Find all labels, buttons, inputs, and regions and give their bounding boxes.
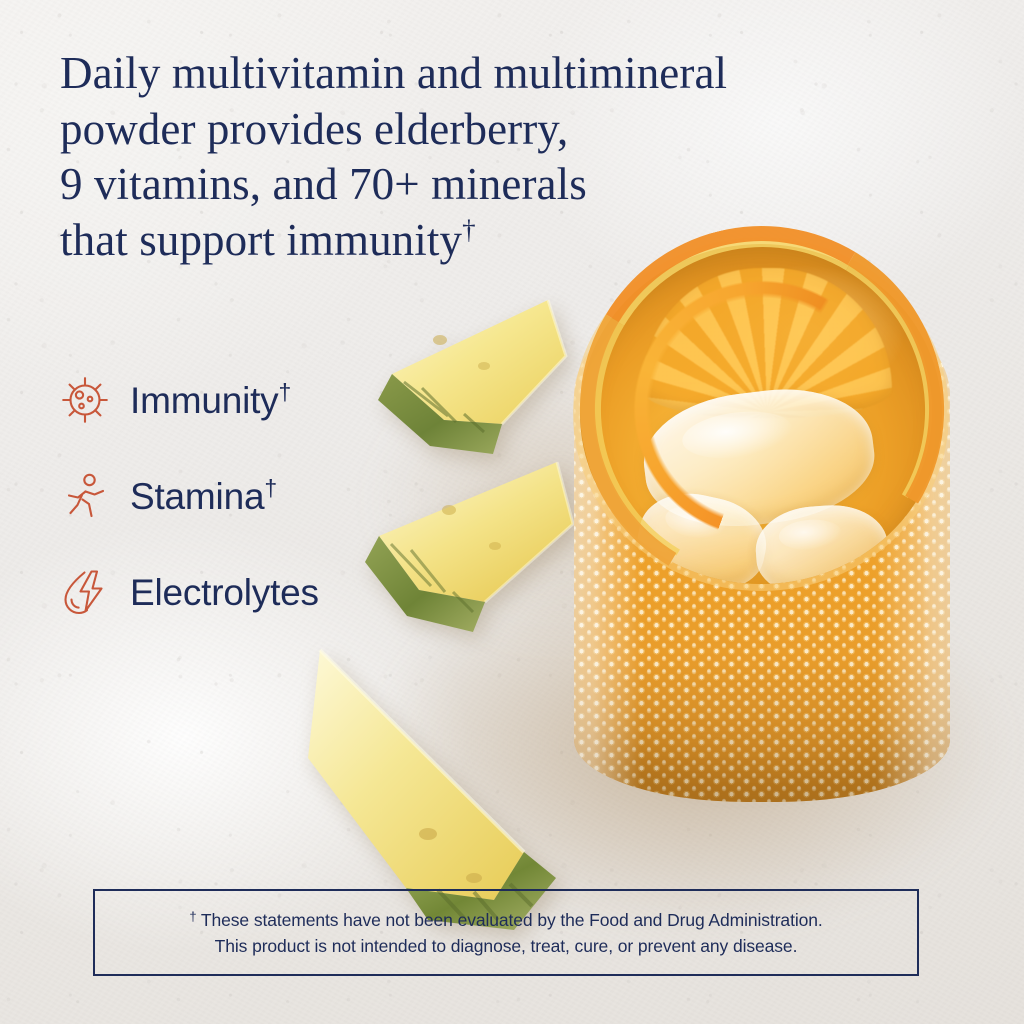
headline-dagger: †	[462, 215, 476, 245]
benefit-dagger: †	[278, 379, 291, 405]
fda-disclaimer-box: † These statements have not been evaluat…	[93, 889, 919, 976]
benefit-dagger: †	[264, 475, 277, 501]
headline-text: Daily multivitamin and multimineral powd…	[60, 48, 727, 265]
headline: Daily multivitamin and multimineral powd…	[60, 46, 860, 268]
disclaimer-line-1: † These statements have not been evaluat…	[189, 909, 822, 931]
lightning-droplet-icon	[58, 565, 112, 619]
benefit-label: Immunity†	[130, 379, 291, 422]
virus-icon	[58, 373, 112, 427]
benefit-label: Stamina†	[130, 475, 277, 518]
benefits-list: Immunity† Stamina†	[58, 352, 478, 640]
disclaimer-dagger: †	[189, 909, 196, 924]
benefit-item-immunity: Immunity†	[58, 352, 478, 448]
runner-icon	[58, 469, 112, 523]
benefit-item-electrolytes: Electrolytes	[58, 544, 478, 640]
disclaimer-line-2: This product is not intended to diagnose…	[215, 936, 798, 957]
product-marketing-image: Daily multivitamin and multimineral powd…	[0, 0, 1024, 1024]
drinking-glass	[566, 236, 1024, 836]
benefit-label: Electrolytes	[130, 571, 319, 614]
benefit-item-stamina: Stamina†	[58, 448, 478, 544]
